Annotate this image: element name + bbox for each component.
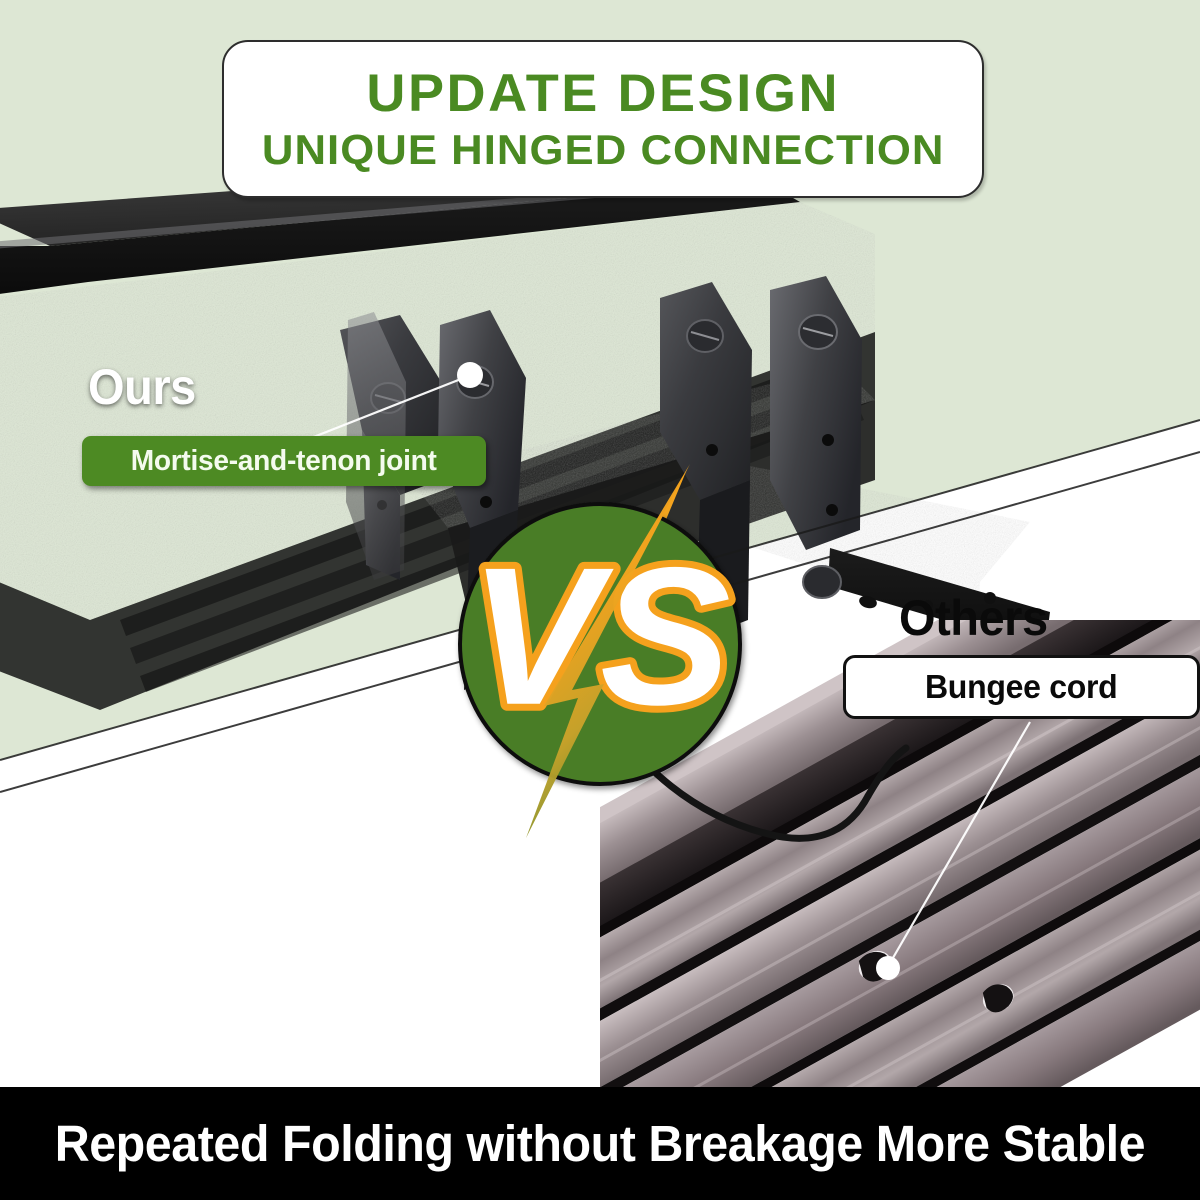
header-banner: UPDATE DESIGN UNIQUE HINGED CONNECTION <box>222 40 984 198</box>
footer-tagline: Repeated Folding without Breakage More S… <box>55 1114 1145 1173</box>
others-feature-badge: Bungee cord <box>843 655 1200 719</box>
header-title-secondary: UNIQUE HINGED CONNECTION <box>262 128 945 172</box>
vs-badge: VS VS <box>452 462 752 842</box>
header-title-primary: UPDATE DESIGN <box>366 66 840 122</box>
infographic-canvas: VS VS UPDATE DESIGN UNIQUE HINGED CONNEC… <box>0 0 1200 1200</box>
ours-feature-text: Mortise-and-tenon joint <box>131 445 437 478</box>
others-feature-text: Bungee cord <box>925 668 1117 706</box>
others-label: Others <box>899 589 1048 647</box>
ours-feature-badge: Mortise-and-tenon joint <box>82 436 486 486</box>
ours-label: Ours <box>88 358 196 416</box>
footer-banner: Repeated Folding without Breakage More S… <box>0 1087 1200 1200</box>
